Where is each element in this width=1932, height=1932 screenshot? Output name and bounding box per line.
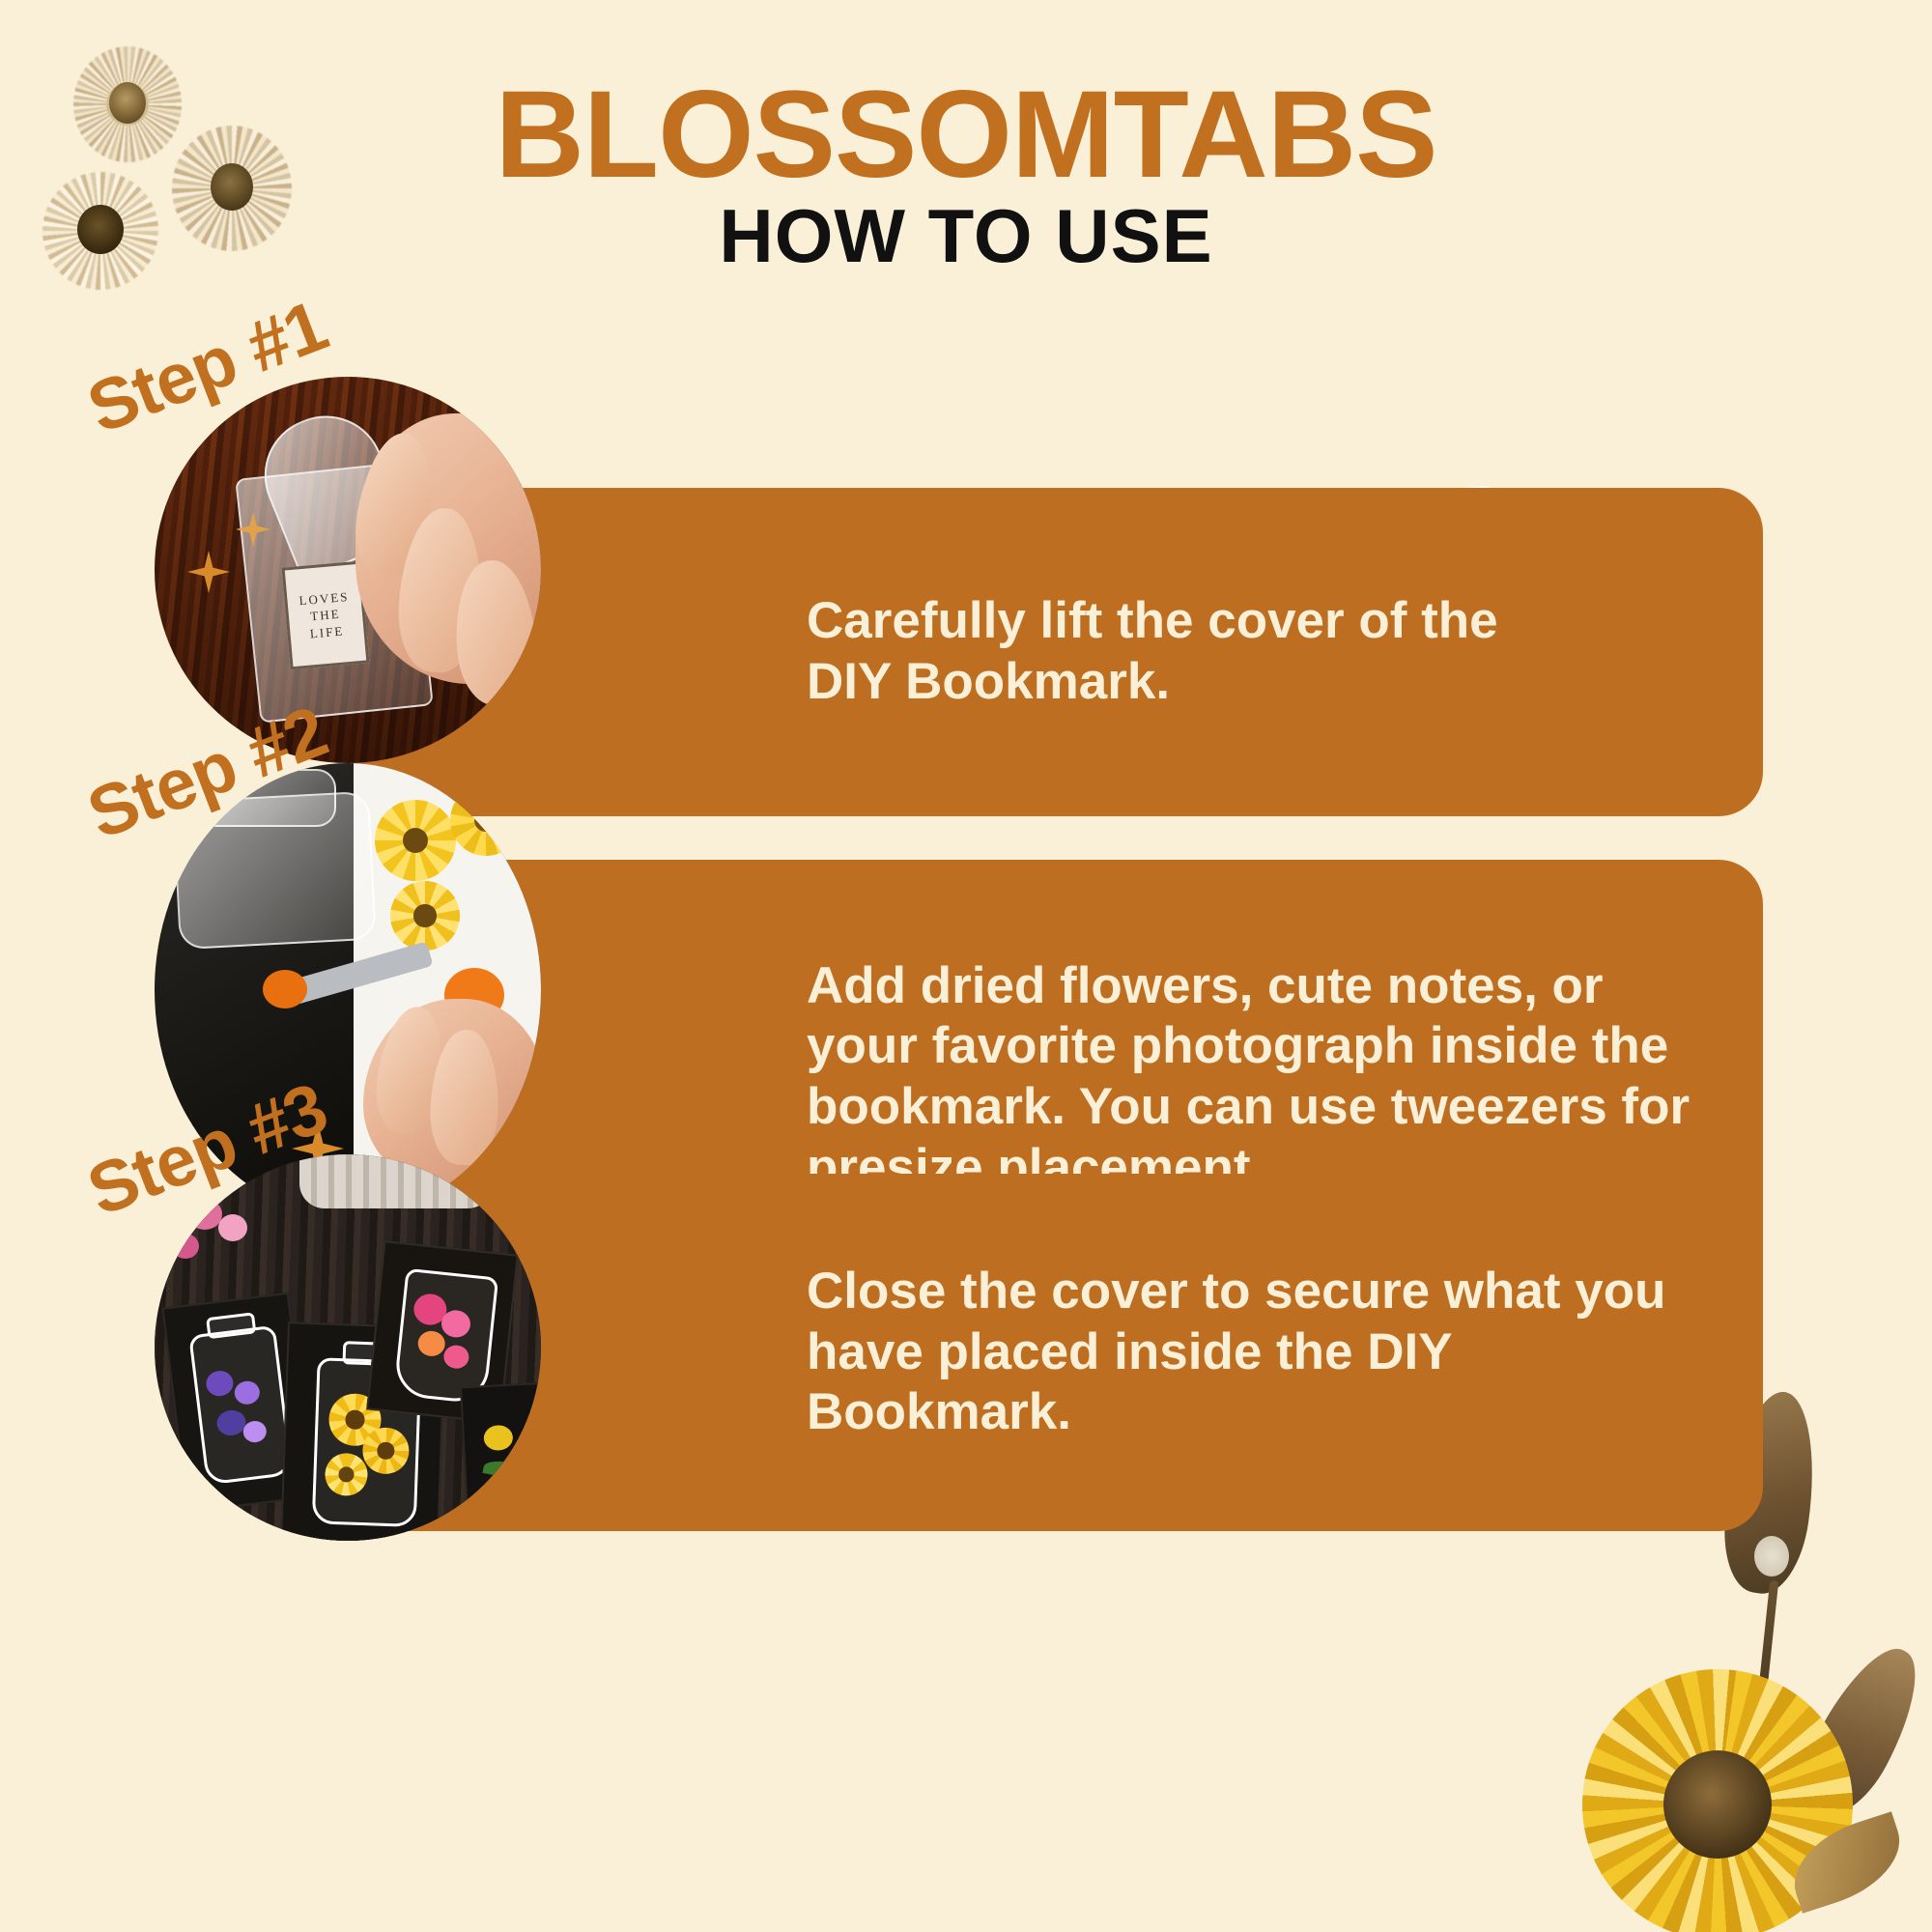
step-3-text-line-3: Bookmark.: [807, 1382, 1763, 1443]
step-1-text-line-2: DIY Bookmark.: [807, 652, 1763, 713]
step-3-text-line-2: have placed inside the DIY: [807, 1322, 1763, 1383]
photo-lifting-bookmark-cover: LOVES THE LIFE: [155, 377, 541, 763]
dried-flower-icon: [43, 172, 158, 290]
dried-flower-icon: [172, 126, 292, 251]
step-2-text-line-1: Add dried flowers, cute notes, or: [807, 956, 1763, 1017]
dried-flower-icon: [73, 46, 182, 162]
step-3-text-line-1: Close the cover to secure what you: [807, 1262, 1763, 1322]
step-2-text-line-3: bookmark. You can use tweezers for: [807, 1077, 1763, 1138]
photo-finished-bookmarks: [155, 1154, 541, 1541]
step-1-text-line-1: Carefully lift the cover of the: [807, 591, 1763, 652]
step-card-1: Carefully lift the cover of the DIY Book…: [353, 488, 1763, 816]
infographic-canvas: BLOSSOMTABS HOW TO USE: [0, 0, 1932, 1932]
decor-dried-flower-cluster-top-left: [29, 29, 319, 290]
tag-line-1: LOVES: [298, 588, 350, 610]
step-2-text-line-2: your favorite photograph inside the: [807, 1016, 1763, 1077]
tag-line-3: LIFE: [309, 622, 345, 642]
step-card-3: Close the cover to secure what you have …: [353, 1174, 1763, 1531]
